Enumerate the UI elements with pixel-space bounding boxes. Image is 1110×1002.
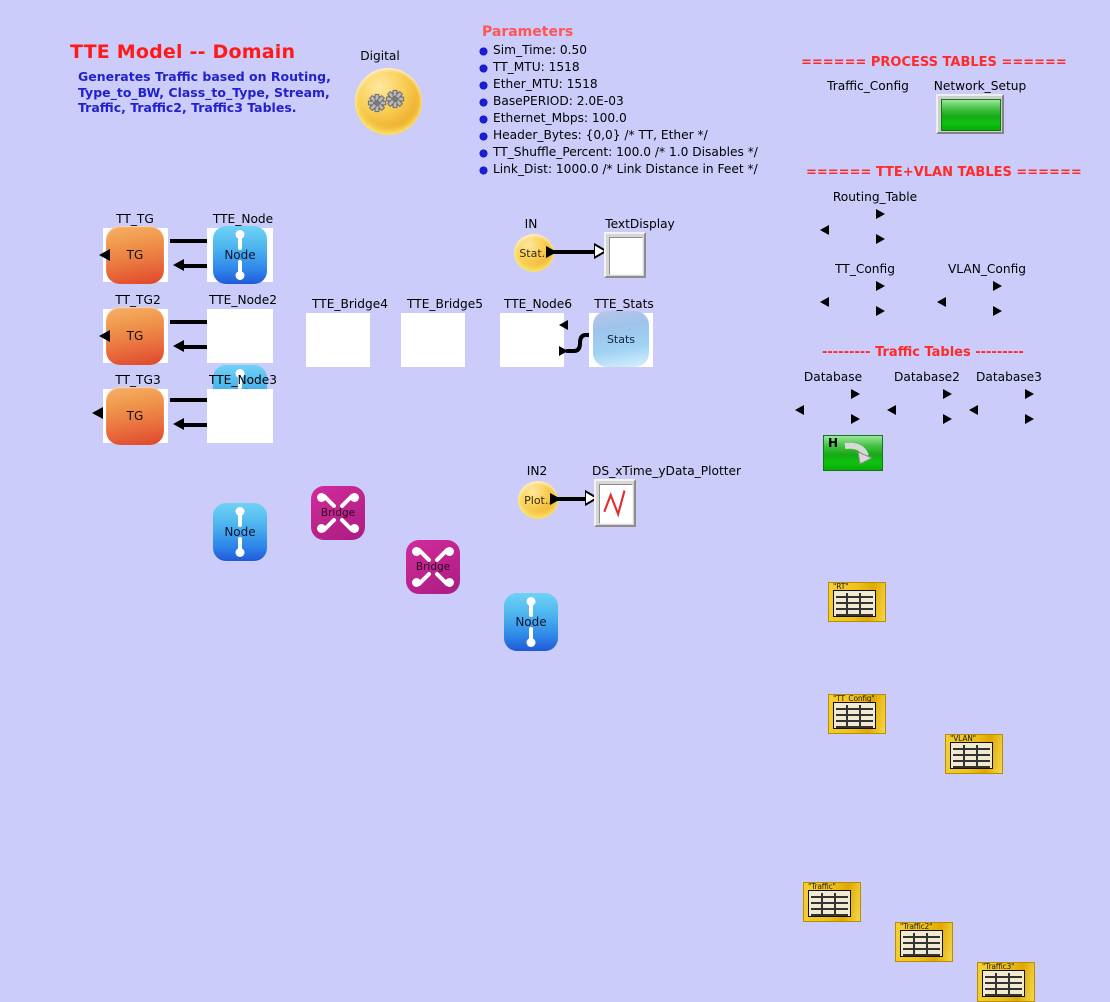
tg-output-port-1[interactable] [99,249,110,261]
bridge-dot [317,524,326,533]
parameters-list: Sim_Time: 0.50 TT_MTU: 1518 Ether_MTU: 1… [480,43,758,179]
bridge-dot [350,493,359,502]
gears-icon[interactable] [355,68,422,135]
subtitle-line-2: Type_to_BW, Class_to_Type, Stream, [78,85,331,101]
database-label-2: Database2 [884,370,970,384]
link-in2-plotter [557,497,587,501]
table-grid-icon [833,590,876,617]
routing-table-input-port[interactable] [820,225,829,235]
text-display-widget[interactable] [604,232,646,278]
parameter-item: BasePERIOD: 2.0E-03 [480,94,758,111]
traffic-generator-block-3[interactable]: TG [106,387,164,445]
tg-label-2: TT_TG2 [99,293,177,307]
parameter-text: TT_MTU: 1518 [493,60,580,74]
node-dot-bottom [527,638,536,647]
text-display-port-label: IN [516,217,546,231]
parameter-item: Link_Dist: 1000.0 /* Link Distance in Fe… [480,162,758,179]
node-dot-bottom [236,548,245,557]
section-heading-process-tables: ====== PROCESS TABLES ====== [801,55,1067,70]
parameter-text: Sim_Time: 0.50 [493,43,587,57]
routing-table-block[interactable]: "RT" [828,582,886,622]
arrow-head-node-tg-2 [173,340,184,352]
bridge-label-4: TTE_Bridge4 [305,297,395,311]
parameter-text: Ethernet_Mbps: 100.0 [493,111,627,125]
bridge-dot [412,578,421,587]
tt-config-output-port-2[interactable] [876,306,885,316]
table-grid-icon [982,970,1025,997]
node-block-3[interactable]: Node [213,503,267,561]
arrow-head-node-tg-1 [173,259,184,271]
node-block-1[interactable]: Node [213,226,267,284]
database-block-2[interactable]: "Traffic2" [895,922,953,962]
text-display-screen [609,237,643,275]
arrow-head-node-tg-3 [173,418,184,430]
bridge-mat-5 [401,313,465,367]
parameter-item: Ethernet_Mbps: 100.0 [480,111,758,128]
database-input-port-3[interactable] [969,405,978,415]
tg-label-3: TT_TG3 [99,373,177,387]
network-setup-label: Network_Setup [927,79,1033,93]
plotter-label: DS_xTime_yData_Plotter [592,464,740,478]
database-label-3: Database3 [966,370,1052,384]
bullet-icon [480,150,487,157]
plotter-trace-icon [600,485,632,523]
digital-label: Digital [345,49,415,63]
parameter-item: TT_MTU: 1518 [480,60,758,77]
traffic-generator-block-1[interactable]: TG [106,226,164,284]
subtitle-line-1: Generates Traffic based on Routing, [78,69,331,85]
bridge-dot [445,547,454,556]
node-label-1: TTE_Node [207,212,279,226]
network-setup-block[interactable] [936,94,1004,134]
vlan-config-input-port[interactable] [937,297,946,307]
page-subtitle: Generates Traffic based on Routing, Type… [78,69,331,116]
network-setup-bar [941,99,1001,131]
node-label-3: TTE_Node3 [203,373,283,387]
node6-label: TTE_Node6 [497,297,579,311]
vlan-config-label: VLAN_Config [940,262,1034,276]
parameter-text: Ether_MTU: 1518 [493,77,598,91]
curved-arrow-icon [842,442,876,466]
plotter-screen [599,484,633,524]
bridge-dot [412,547,421,556]
parameter-text: Link_Dist: 1000.0 /* Link Distance in Fe… [493,162,758,176]
bridge-label-5: TTE_Bridge5 [400,297,490,311]
database-block-1[interactable]: "Traffic" [803,882,861,922]
tg-output-port-2[interactable] [99,330,110,342]
node-block-6[interactable]: Node [504,593,558,651]
stats-block[interactable]: Stats [593,311,649,367]
bridge-block-5[interactable]: Bridge [406,540,460,594]
routing-table-label: Routing_Table [818,190,932,204]
routing-table-output-port-2[interactable] [876,234,885,244]
tt-config-input-port[interactable] [820,297,829,307]
tg-output-port-3[interactable] [92,407,103,419]
plotter-widget[interactable] [594,479,636,527]
bridge-dot [317,493,326,502]
text-display-port-text: Stat.. [519,247,548,260]
section-heading-tte-vlan-tables: ====== TTE+VLAN TABLES ====== [806,165,1082,180]
traffic-config-glyph: H [828,436,838,450]
database-output-port-1a[interactable] [851,389,860,399]
subtitle-line-3: Traffic, Traffic2, Traffic3 Tables. [78,100,331,116]
node-mat-3 [207,389,273,443]
database-output-port-3a[interactable] [1025,389,1034,399]
table-grid-icon [950,742,993,769]
gears-icon-glyph [366,88,412,116]
tg-inner-label: TG [127,409,144,423]
bullet-icon [480,82,487,89]
plotter-port-label: IN2 [520,464,554,478]
stats-inner-label: Stats [607,333,635,346]
parameter-item: Sim_Time: 0.50 [480,43,758,60]
traffic-config-label: Traffic_Config [815,79,921,93]
parameter-item: TT_Shuffle_Percent: 100.0 /* 1.0 Disable… [480,145,758,162]
parameter-item: Ether_MTU: 1518 [480,77,758,94]
text-display-label: TextDisplay [603,217,677,231]
tg-inner-label: TG [127,329,144,343]
bullet-icon [480,65,487,72]
vlan-config-block[interactable]: "VLAN" [945,734,1003,774]
node-label-2: TTE_Node2 [203,293,283,307]
bullet-icon [480,116,487,123]
database-output-port-3b[interactable] [1025,414,1034,424]
tt-config-label: TT_Config [822,262,908,276]
parameter-item: Header_Bytes: {0,0} /* TT, Ether */ [480,128,758,145]
section-heading-traffic-tables: --------- Traffic Tables --------- [822,345,1024,360]
bridge-dot [350,524,359,533]
vlan-config-output-port-2[interactable] [993,306,1002,316]
bullet-icon [480,99,487,106]
node-dot-top [236,507,245,516]
database-input-port-1[interactable] [795,405,804,415]
database-block-3[interactable]: "Traffic3" [977,962,1035,1002]
parameter-text: BasePERIOD: 2.0E-03 [493,94,624,108]
traffic-generator-block-2[interactable]: TG [106,307,164,365]
database-label-1: Database [793,370,873,384]
bridge-mat-4 [306,313,370,367]
bridge-block-4[interactable]: Bridge [311,486,365,540]
node-dot-top [527,597,536,606]
database-input-port-2[interactable] [887,405,896,415]
bridge-dot [445,578,454,587]
page-title: TTE Model -- Domain [70,41,295,63]
plotter-port-text: Plot.. [524,494,552,507]
node-dot-top [236,230,245,239]
parameter-text: TT_Shuffle_Percent: 100.0 /* 1.0 Disable… [493,145,758,159]
database-output-port-2b[interactable] [943,414,952,424]
parameter-text: Header_Bytes: {0,0} /* TT, Ether */ [493,128,708,142]
tg-label-1: TT_TG [99,212,171,226]
database-output-port-1b[interactable] [851,414,860,424]
node-mat-2 [207,309,273,363]
tg-inner-label: TG [127,248,144,262]
routing-table-output-port-1[interactable] [876,209,885,219]
link-in-textdisplay [553,250,596,254]
table-grid-icon [900,930,943,957]
stats-label: TTE_Stats [588,297,660,311]
table-grid-icon [833,702,876,729]
vlan-config-output-port-1[interactable] [993,281,1002,291]
bullet-icon [480,167,487,174]
parameters-heading: Parameters [482,24,573,40]
table-grid-icon [808,890,851,917]
tt-config-block[interactable]: "TT_Config" [828,694,886,734]
tt-config-output-port-1[interactable] [876,281,885,291]
bullet-icon [480,133,487,140]
bridge-inner-label: Bridge [416,561,450,573]
bullet-icon [480,48,487,55]
traffic-config-block[interactable]: H [823,435,883,471]
database-output-port-2a[interactable] [943,389,952,399]
node6-mat [500,313,564,367]
bridge-inner-label: Bridge [321,507,355,519]
node-dot-bottom [236,271,245,280]
